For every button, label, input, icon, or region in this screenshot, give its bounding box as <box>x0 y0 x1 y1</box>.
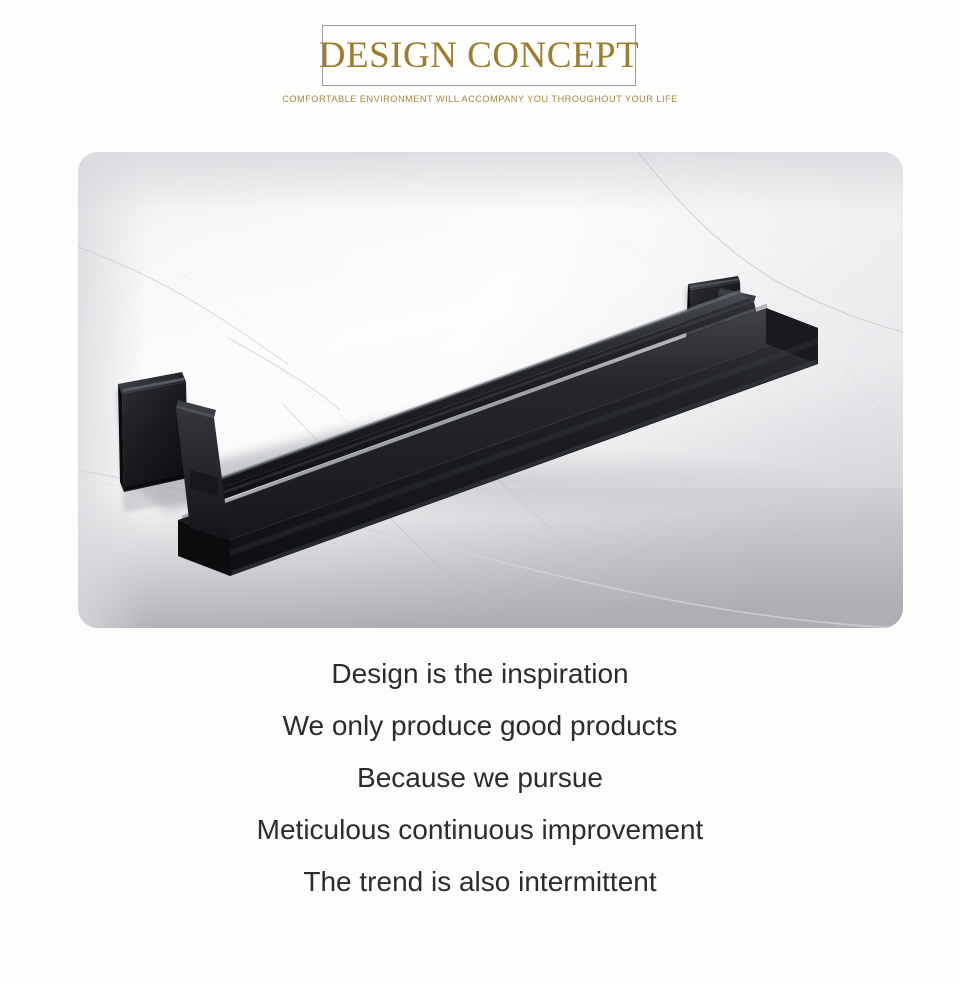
page-subtitle: COMFORTABLE ENVIRONMENT WILL ACCOMPANY Y… <box>0 92 960 106</box>
page-header: DESIGN CONCEPT COMFORTABLE ENVIRONMENT W… <box>0 0 960 150</box>
tagline-block: Design is the inspiration We only produc… <box>0 648 960 908</box>
title-box: DESIGN CONCEPT <box>322 25 636 86</box>
tagline-line: Because we pursue <box>0 752 960 804</box>
tagline-line: Meticulous continuous improvement <box>0 804 960 856</box>
product-photo <box>78 152 903 628</box>
tagline-line: We only produce good products <box>0 700 960 752</box>
page-title: DESIGN CONCEPT <box>319 37 640 74</box>
tagline-line: Design is the inspiration <box>0 648 960 700</box>
product-photo-illustration <box>78 152 903 628</box>
tagline-line: The trend is also intermittent <box>0 856 960 908</box>
